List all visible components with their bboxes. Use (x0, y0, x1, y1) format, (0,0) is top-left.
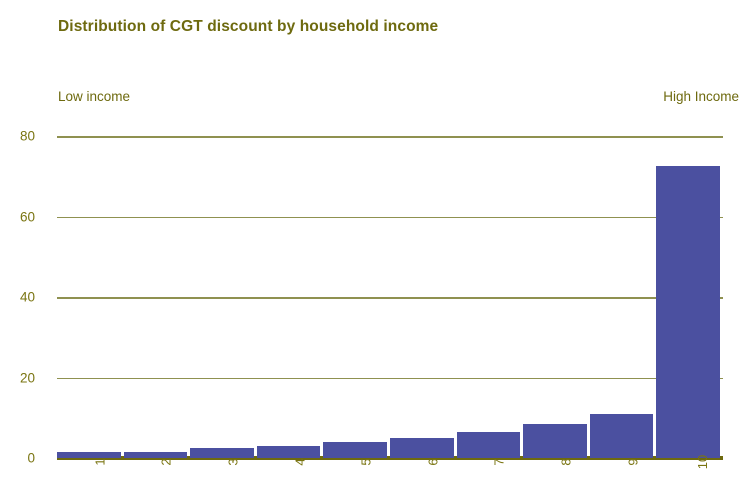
chart-figure: Distribution of CGT discount by househol… (0, 0, 753, 502)
bar-series (57, 136, 723, 458)
x-axis-tick-label: 1 (92, 458, 107, 465)
bar (190, 448, 254, 458)
x-axis-tick-label: 3 (226, 458, 241, 465)
bar (323, 442, 387, 458)
page-title: Distribution of CGT discount by househol… (58, 18, 438, 36)
bar (590, 414, 654, 458)
y-axis-tick-label: 0 (27, 451, 35, 466)
high-income-annotation: High Income (663, 89, 739, 104)
x-axis-tick-label: 9 (625, 458, 640, 465)
low-income-annotation: Low income (58, 89, 130, 104)
x-axis-tick-label: 5 (359, 458, 374, 465)
bar (656, 166, 720, 458)
y-axis-tick-label: 20 (20, 370, 35, 385)
bar (523, 424, 587, 458)
bar (457, 432, 521, 458)
y-axis-tick-label: 80 (20, 129, 35, 144)
bar (257, 446, 321, 458)
bar (390, 438, 454, 458)
y-axis-tick-label: 40 (20, 290, 35, 305)
bar (57, 452, 121, 458)
x-axis-tick-label: 8 (559, 458, 574, 465)
y-axis-tick-labels: 020406080 (0, 136, 45, 458)
x-axis-tick-label: 10 (695, 455, 710, 469)
x-axis-tick-labels: 12345678910 (57, 462, 723, 502)
x-axis-tick-label: 7 (492, 458, 507, 465)
bar (124, 452, 188, 458)
x-axis-tick-label: 4 (292, 458, 307, 465)
y-axis-tick-label: 60 (20, 209, 35, 224)
x-axis-tick-label: 2 (159, 458, 174, 465)
plot-area (57, 136, 723, 458)
x-axis-tick-label: 6 (425, 458, 440, 465)
